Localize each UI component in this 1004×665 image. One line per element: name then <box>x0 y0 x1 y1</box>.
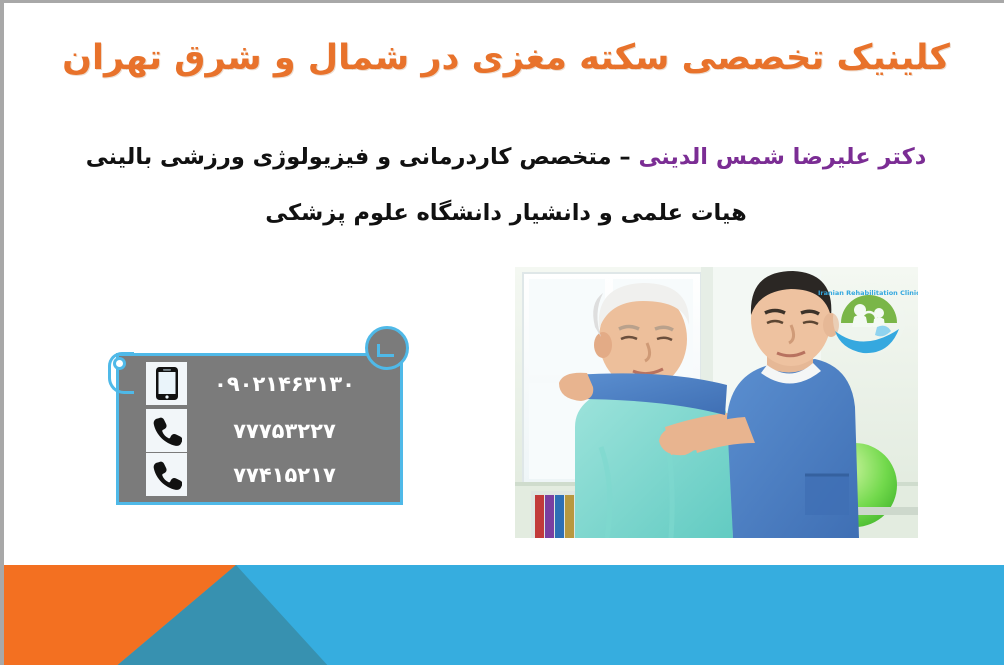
telephone-handset-icon <box>146 453 187 496</box>
page-title: کلینیک تخصصی سکته مغزی در شمال و شرق تهر… <box>4 37 1004 81</box>
svg-text:Iranian Rehabilitation Clinic: Iranian Rehabilitation Clinic <box>818 289 918 297</box>
contact-row[interactable]: ۷۷۴۱۵۲۱۷ <box>146 453 396 496</box>
phone-number-value: ۷۷۴۱۵۲۱۷ <box>187 463 396 487</box>
doctor-name: دکتر علیرضا شمس الدینی <box>638 144 926 170</box>
poster-root: کلینیک تخصصی سکته مغزی در شمال و شرق تهر… <box>0 0 1004 665</box>
contact-card: ۰۹۰۲۱۴۶۳۱۳۰ ۷۷۷۵۳۲۲۷ ۷۷۴۱۵۲۱۷ <box>108 346 411 507</box>
phone-number-value: ۷۷۷۵۳۲۲۷ <box>187 419 396 443</box>
contact-rows: ۰۹۰۲۱۴۶۳۱۳۰ ۷۷۷۵۳۲۲۷ ۷۷۴۱۵۲۱۷ <box>116 353 403 505</box>
mobile-phone-icon <box>146 362 187 405</box>
subtitle-line-2: هیات علمی و دانشیار دانشگاه علوم پزشکی <box>4 199 1004 228</box>
phone-number-value: ۰۹۰۲۱۴۶۳۱۳۰ <box>187 372 396 396</box>
contact-row[interactable]: ۷۷۷۵۳۲۲۷ <box>146 409 396 452</box>
doctor-specialty: – متخصص کاردرمانی و فیزیولوژی ورزشی بالی… <box>86 144 639 170</box>
footer-decorative-bands <box>4 565 1004 665</box>
telephone-handset-icon <box>146 409 187 452</box>
subtitle-line-1: دکتر علیرضا شمس الدینی – متخصص کاردرمانی… <box>4 143 1004 172</box>
clinic-photo: Iranian Rehabilitation Clinic <box>515 267 918 538</box>
contact-row[interactable]: ۰۹۰۲۱۴۶۳۱۳۰ <box>146 362 396 405</box>
